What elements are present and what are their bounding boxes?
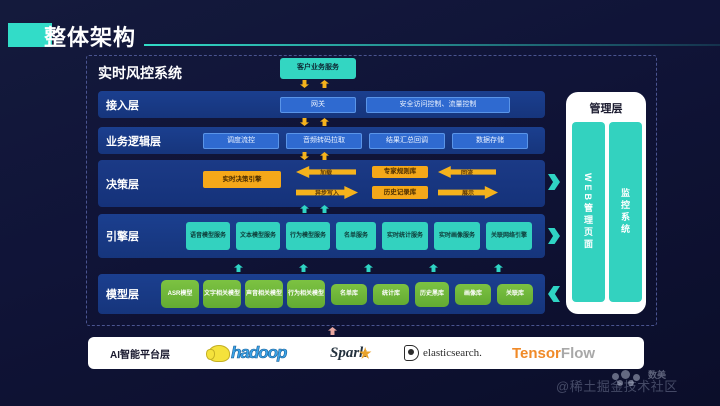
tensorflow-logo: Tensor Flow	[512, 337, 595, 369]
chip-statistics-store[interactable]: 统计库	[373, 284, 409, 305]
chip-voice-related-model[interactable]: 声音相关模型	[245, 280, 283, 308]
system-title: 实时风控系统	[98, 63, 182, 83]
hadoop-logo-text: hadoop	[231, 343, 286, 363]
customer-service-box[interactable]: 客户业务服务	[280, 58, 356, 79]
chip-security-access-control[interactable]: 安全访问控制、流量控制	[366, 97, 510, 113]
watermark-brand-text: 数美	[648, 368, 666, 381]
hadoop-logo: hadoop	[208, 337, 286, 369]
chip-history-record-store[interactable]: 历史记录库	[372, 186, 428, 199]
chip-realtime-profile-service[interactable]: 实时画像服务	[434, 222, 480, 250]
chip-audio-transcode-pull[interactable]: 音频转码拉取	[286, 133, 362, 149]
chip-relation-network-engine[interactable]: 关联网络引擎	[486, 222, 532, 250]
layer-label-access: 接入层	[106, 91, 139, 118]
elasticsearch-logo: elasticsearch.	[404, 337, 482, 369]
chip-behavior-model-service[interactable]: 行为模型服务	[286, 222, 330, 250]
layer-label-business: 业务逻辑层	[106, 127, 161, 154]
chip-list-service[interactable]: 名单服务	[336, 222, 376, 250]
hadoop-elephant-icon	[208, 345, 230, 362]
management-title: 管理层	[566, 100, 646, 116]
layer-label-model: 模型层	[106, 274, 139, 314]
page-title: 整体架构	[44, 20, 136, 52]
tensorflow-logo-text-a: Tensor	[512, 345, 561, 362]
elasticsearch-logo-text: elasticsearch.	[423, 347, 482, 359]
header-divider	[144, 44, 720, 46]
slide-canvas: 整体架构 实时风控系统 客户业务服务 接入层 网关 安全访问控制、流量控制 业务…	[0, 0, 720, 406]
chip-history-black-store[interactable]: 历史黑库	[415, 282, 449, 307]
chip-scheduling-flow-control[interactable]: 调度流控	[203, 133, 279, 149]
chip-realtime-statistics-service[interactable]: 实时统计服务	[382, 222, 428, 250]
chip-text-model-service[interactable]: 文本模型服务	[236, 222, 280, 250]
chip-list-store[interactable]: 名单库	[331, 284, 367, 305]
chip-asr-model[interactable]: ASR模型	[161, 280, 199, 308]
chip-profile-store[interactable]: 画像库	[455, 284, 491, 305]
management-column-web[interactable]: WEB管理页面	[572, 122, 605, 302]
chip-voice-model-service[interactable]: 语音模型服务	[186, 222, 230, 250]
chip-data-storage[interactable]: 数据存储	[452, 133, 528, 149]
management-column-monitor[interactable]: 监控系统	[609, 122, 642, 302]
chip-result-summary-callback[interactable]: 结果汇总回调	[369, 133, 445, 149]
ai-platform-label: AI智能平台层	[110, 337, 170, 369]
tensorflow-logo-text-b: Flow	[561, 345, 595, 362]
chip-relation-store[interactable]: 关联库	[497, 284, 533, 305]
chip-realtime-decision-engine[interactable]: 实时决策引擎	[203, 171, 281, 188]
layer-label-engine: 引擎层	[106, 214, 139, 258]
layer-label-decision: 决策层	[106, 160, 139, 207]
chip-expert-rule-store[interactable]: 专家规则库	[372, 166, 428, 178]
chip-behavior-related-model[interactable]: 行为相关模型	[287, 280, 325, 308]
chip-gateway[interactable]: 网关	[280, 97, 356, 113]
arrow-platform-to-system	[328, 327, 337, 335]
layer-band-decision	[98, 160, 545, 207]
chip-text-related-model[interactable]: 文字相关模型	[203, 280, 241, 308]
watermark-logo-mark	[612, 370, 646, 386]
spark-logo: Spark	[330, 337, 367, 369]
elasticsearch-mark-icon	[404, 345, 419, 361]
